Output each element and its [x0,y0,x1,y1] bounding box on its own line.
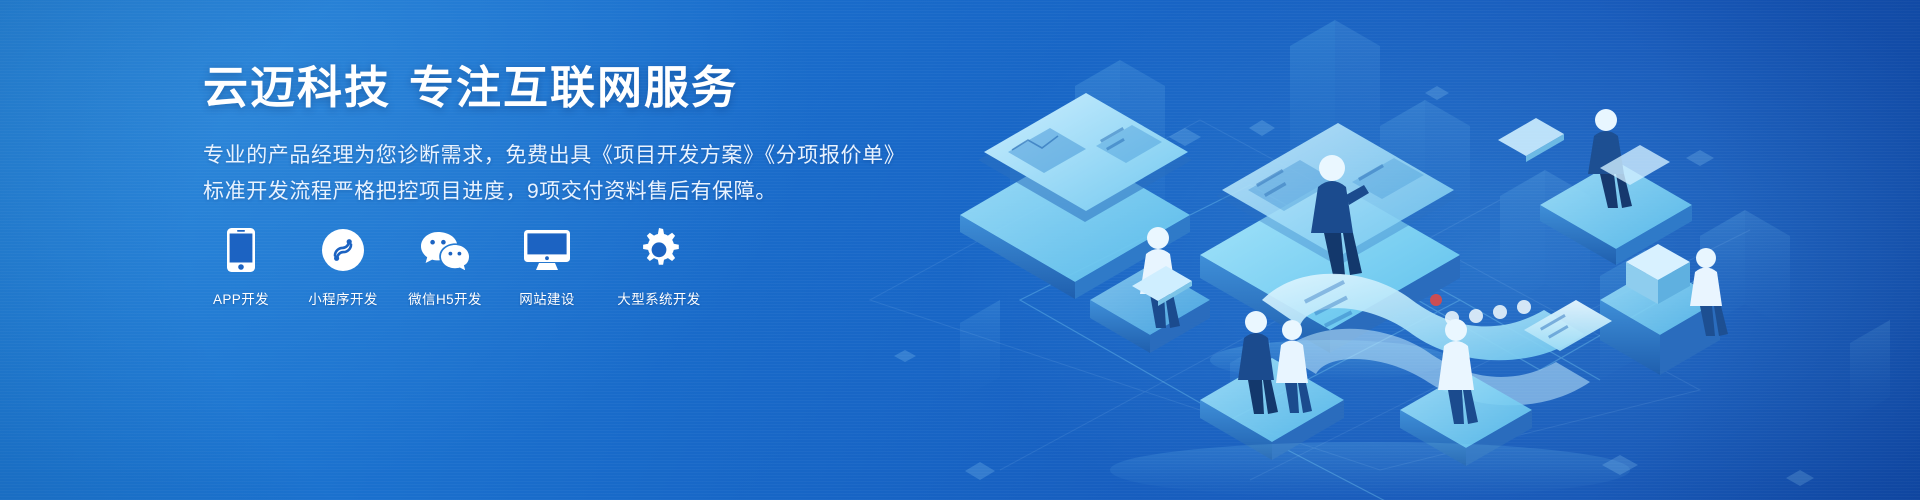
subtitle-line-2: 标准开发流程严格把控项目进度，9项交付资料售后有保障。 [203,174,923,210]
title-tagline: 专注互联网服务 [409,62,738,113]
mini-program-icon [322,228,364,272]
illustration-back-platform [1540,109,1692,265]
service-item-large-system[interactable]: 大型系统开发 [611,228,707,308]
title-brand: 云迈科技 [203,62,391,113]
banner-subtitle: 专业的产品经理为您诊断需求，免费出具《项目开发方案》《分项报价单》 标准开发流程… [203,138,923,210]
service-label: APP开发 [213,288,269,308]
service-label: 微信H5开发 [408,288,482,308]
illustration-floating-card-top [1498,118,1564,162]
wechat-icon [421,228,469,272]
service-item-mini-program[interactable]: 小程序开发 [305,228,381,308]
service-item-website[interactable]: 网站建设 [509,228,585,308]
service-item-wechat-h5[interactable]: 微信H5开发 [407,228,483,308]
service-list: APP开发 小程序开发 [203,228,707,308]
gear-icon [637,228,681,272]
subtitle-line-1: 专业的产品经理为您诊断需求，免费出具《项目开发方案》《分项报价单》 [203,138,923,174]
service-label: 大型系统开发 [617,288,700,308]
service-label: 网站建设 [519,288,575,308]
service-label: 小程序开发 [308,288,378,308]
service-item-app[interactable]: APP开发 [203,228,279,308]
page-title: 云迈科技专注互联网服务 [203,60,923,116]
hero-banner: 云迈科技专注互联网服务 专业的产品经理为您诊断需求，免费出具《项目开发方案》《分… [0,0,1920,500]
banner-content: 云迈科技专注互联网服务 专业的产品经理为您诊断需求，免费出具《项目开发方案》《分… [203,60,923,210]
monitor-icon [524,228,570,272]
illustration-right-pillar [1600,244,1728,375]
mobile-phone-icon [227,228,255,272]
isometric-illustration [900,0,1920,500]
